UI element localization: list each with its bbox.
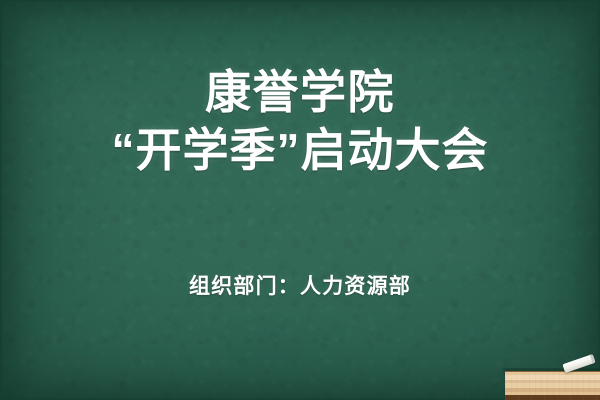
- title-line-2: “开学季”启动大会: [0, 121, 600, 179]
- chalk-ledge: [505, 371, 600, 400]
- slide-subtitle-organizing-department: 组织部门：人力资源部: [0, 273, 600, 301]
- chalkboard-slide: 康誉学院 “开学季”启动大会 组织部门：人力资源部: [0, 0, 600, 400]
- slide-content: 康誉学院 “开学季”启动大会 组织部门：人力资源部: [0, 0, 600, 400]
- chalk-ledge-woodgrain: [505, 371, 600, 400]
- title-line-1: 康誉学院: [0, 63, 600, 121]
- slide-title: 康誉学院 “开学季”启动大会: [0, 63, 600, 179]
